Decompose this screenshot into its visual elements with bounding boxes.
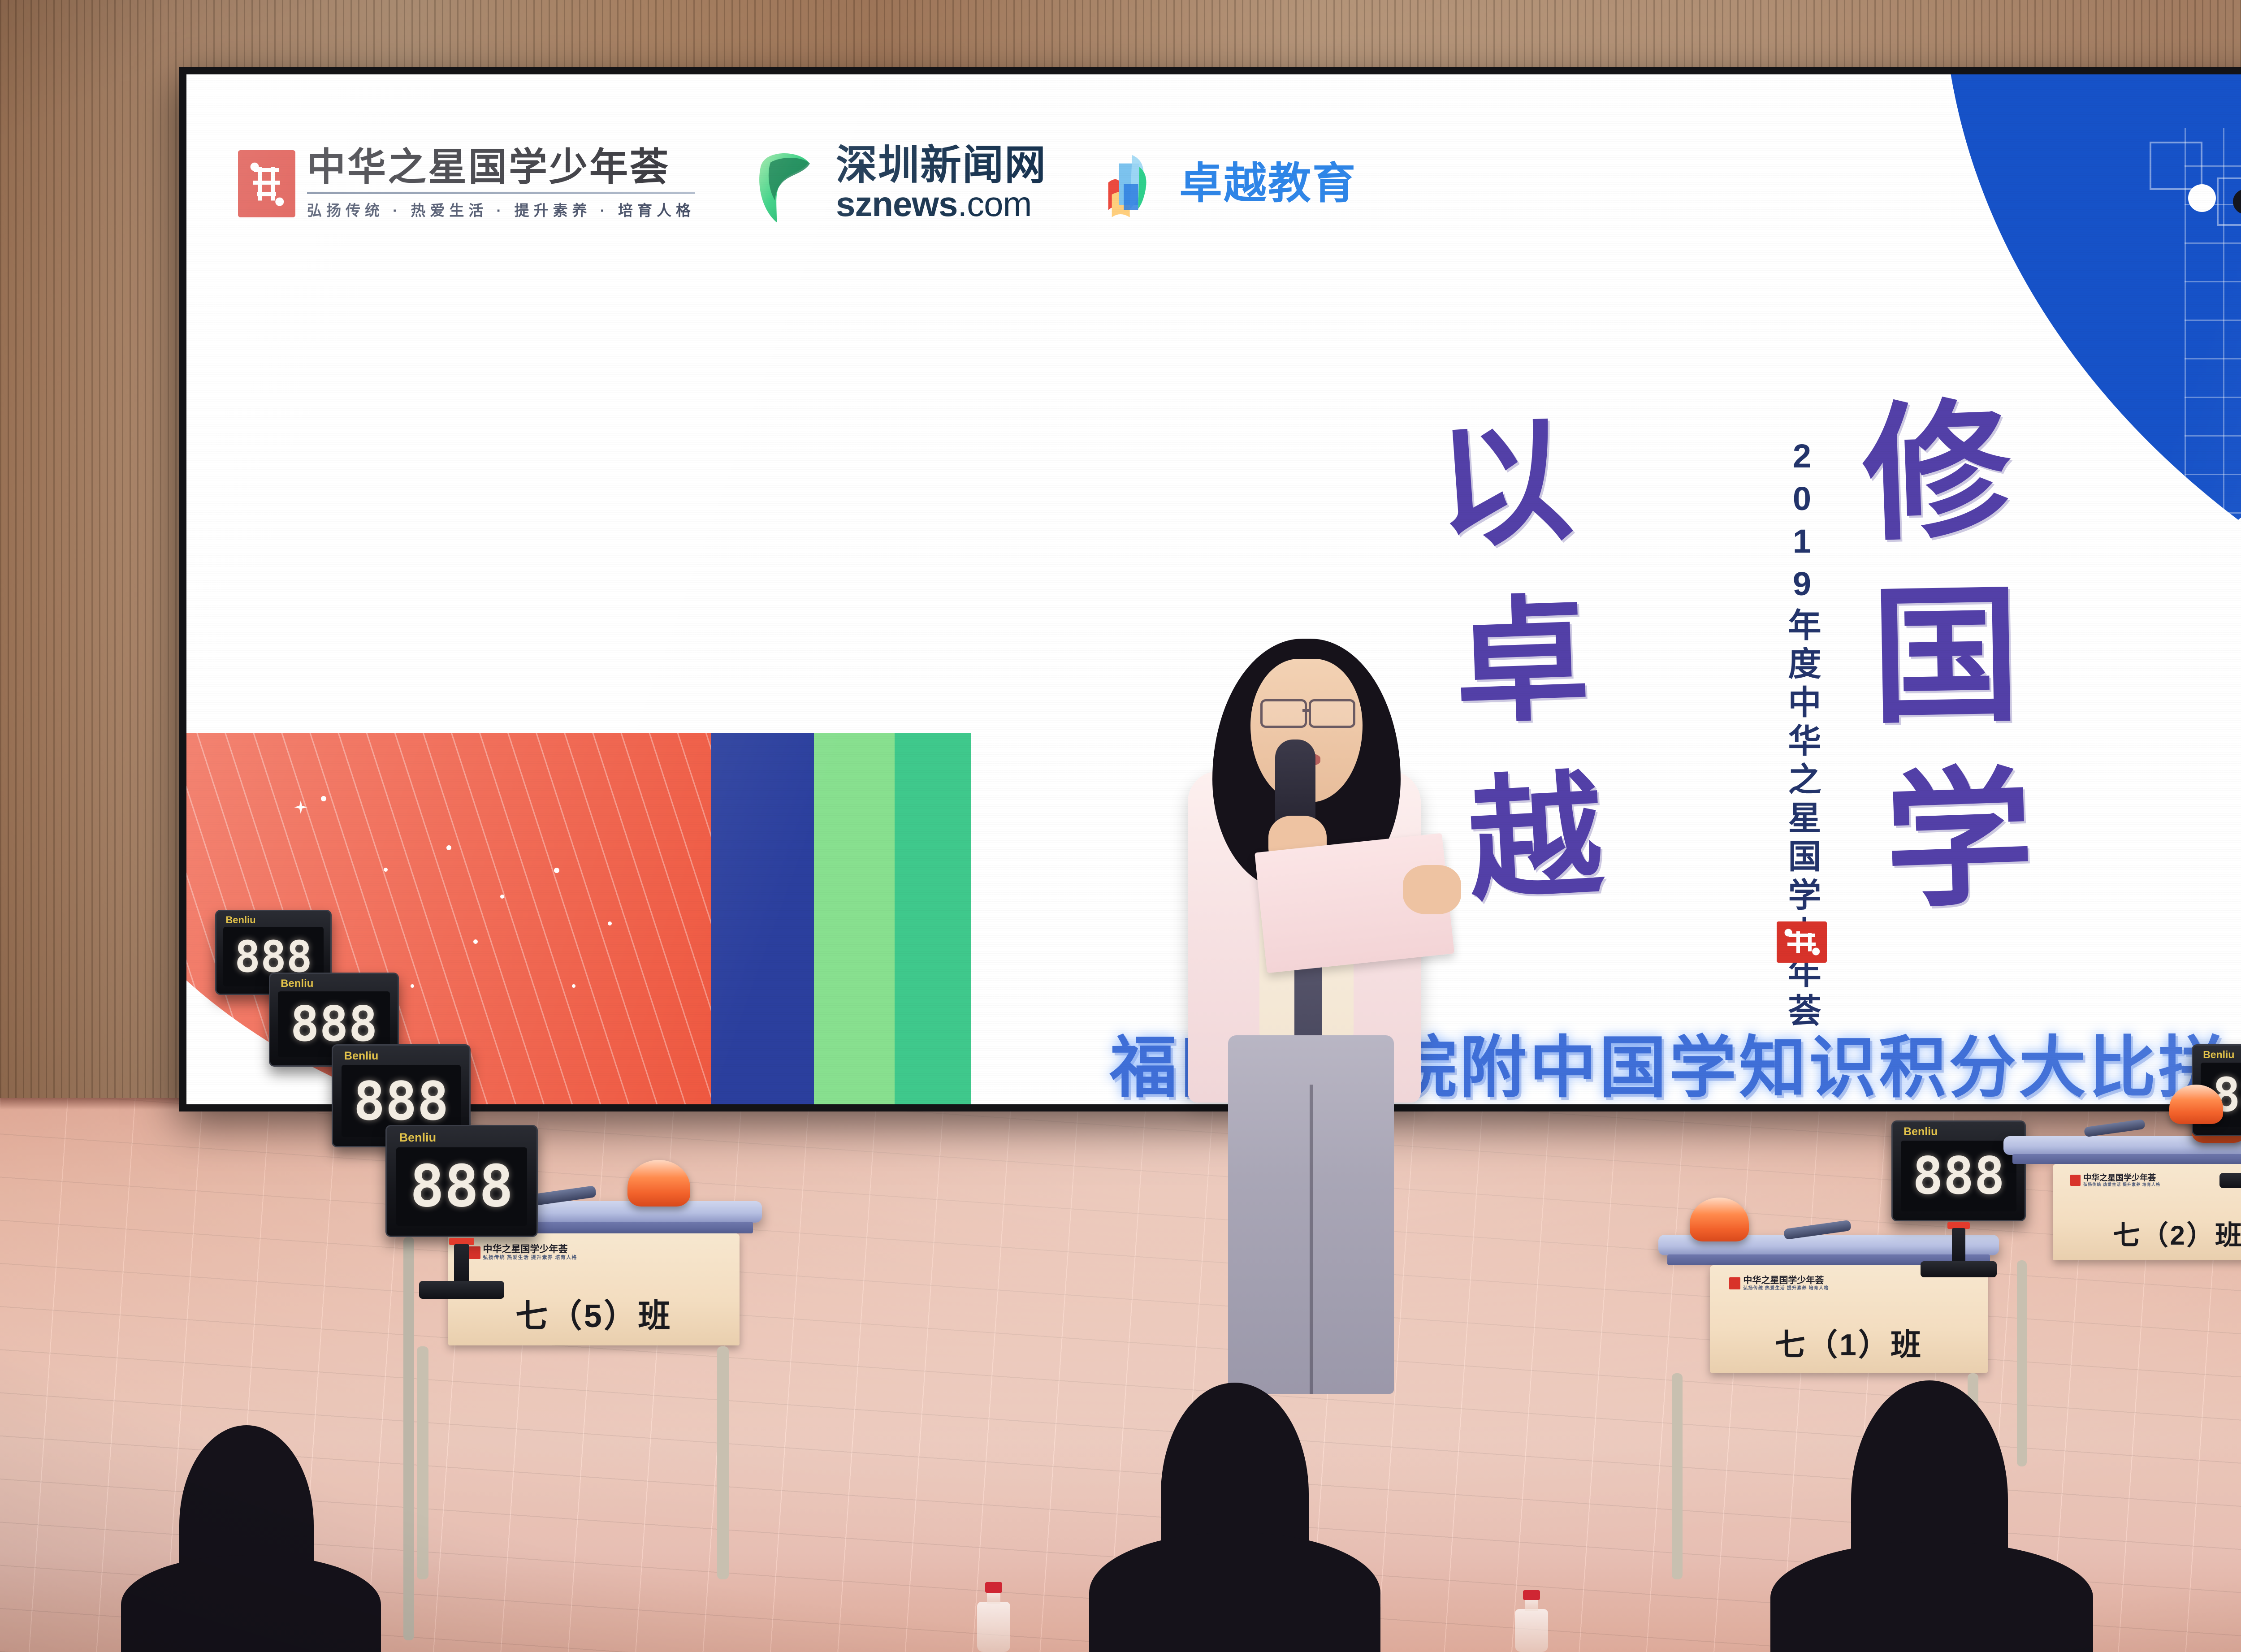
logo-title-zhonghua: 中华之星国学少年荟 — [307, 148, 695, 186]
stage-scene: 中华之星国学少年荟 弘扬传统 · 热爱生活 · 提升素养 · 培育人格 — [0, 0, 2241, 1652]
red-seal-stamp-icon — [1777, 921, 1827, 963]
logo-tagline-zhonghua: 弘扬传统 · 热爱生活 · 提升素养 · 培育人格 — [307, 199, 695, 220]
audience-shoulders — [1770, 1542, 2093, 1652]
presenter-glasses — [1260, 699, 1307, 728]
presenter-glasses — [1309, 699, 1355, 728]
logo-divider — [307, 192, 695, 194]
logo-title-sznews-en: sznews.com — [836, 186, 1047, 223]
scoreboard-desk-2: Benliu 888 — [1891, 1120, 2026, 1221]
scoreboard-brand: Benliu — [1904, 1125, 1938, 1138]
desk-nameplate-2: 中华之星国学少年荟 弘扬传统 热爱生活 提升素养 培育人格 七（1）班 — [1710, 1265, 1988, 1373]
class-label-3: 七（2）班 — [2053, 1214, 2241, 1253]
scoreboard-brand: Benliu — [281, 977, 313, 990]
nameplate-logo-1: 中华之星国学少年荟 弘扬传统 热爱生活 提升素养 培育人格 — [469, 1245, 577, 1260]
scoreboard-brand: Benliu — [399, 1131, 437, 1145]
calligraphy-char-yi: 以 — [1433, 419, 1575, 549]
calligraphy-char-xue: 学 — [1883, 771, 2035, 909]
score-digits: 888 — [410, 1158, 513, 1215]
logo-zhuoyue-edu: 卓越教育 — [1100, 148, 1357, 220]
nameplate-logo-2: 中华之星国学少年荟 弘扬传统 热爱生活 提升素养 培育人格 — [1729, 1276, 1829, 1291]
logo-sznews: 深圳新闻网 sznews.com — [749, 144, 1047, 224]
sponsor-logo-bar: 中华之星国学少年荟 弘扬传统 · 热爱生活 · 提升素养 · 培育人格 — [238, 144, 1357, 224]
class-label-2: 七（1）班 — [1710, 1320, 1988, 1364]
water-bottle — [1515, 1590, 1548, 1652]
logo-title-zhuoyue: 卓越教育 — [1179, 162, 1357, 205]
logo-sznews-domain-suffix: .com — [957, 184, 1031, 224]
calligraphy-char-guo: 国 — [1870, 588, 2020, 724]
score-digits: 888 — [353, 1075, 449, 1128]
score-digits: 888 — [1912, 1150, 2005, 1202]
calligraphy-char-yue: 越 — [1465, 774, 1606, 902]
desk-nameplate-3: 中华之星国学少年荟 弘扬传统 热爱生活 提升素养 培育人格 七（2）班 — [2053, 1164, 2241, 1260]
water-bottle — [977, 1582, 1010, 1652]
nameplate-logo-3: 中华之星国学少年荟 弘扬传统 热爱生活 提升素养 培育人格 — [2070, 1174, 2160, 1187]
green-leaf-ribbon-icon — [749, 144, 824, 224]
score-digits: 888 — [290, 1000, 377, 1049]
logo-zhonghua-zhixing: 中华之星国学少年荟 弘扬传统 · 热爱生活 · 提升素养 · 培育人格 — [238, 148, 695, 220]
audience-shoulders — [121, 1555, 381, 1652]
logo-title-sznews-cn: 深圳新闻网 — [836, 145, 1047, 186]
red-seal-stamp-icon — [238, 150, 295, 217]
audience-shoulders — [1089, 1533, 1380, 1652]
scoreboard-desk-1: Benliu 888 — [385, 1125, 538, 1237]
calligraphy-char-zhuo: 卓 — [1453, 599, 1591, 724]
score-digits: 888 — [234, 935, 312, 978]
calligraphy-char-xiu: 修 — [1860, 403, 2013, 541]
scoreboard-brand: Benliu — [225, 914, 255, 926]
colorful-book-pages-icon — [1100, 148, 1168, 220]
scoreboard-brand: Benliu — [344, 1050, 378, 1063]
scoreboard-brand: Benliu — [2203, 1049, 2234, 1061]
